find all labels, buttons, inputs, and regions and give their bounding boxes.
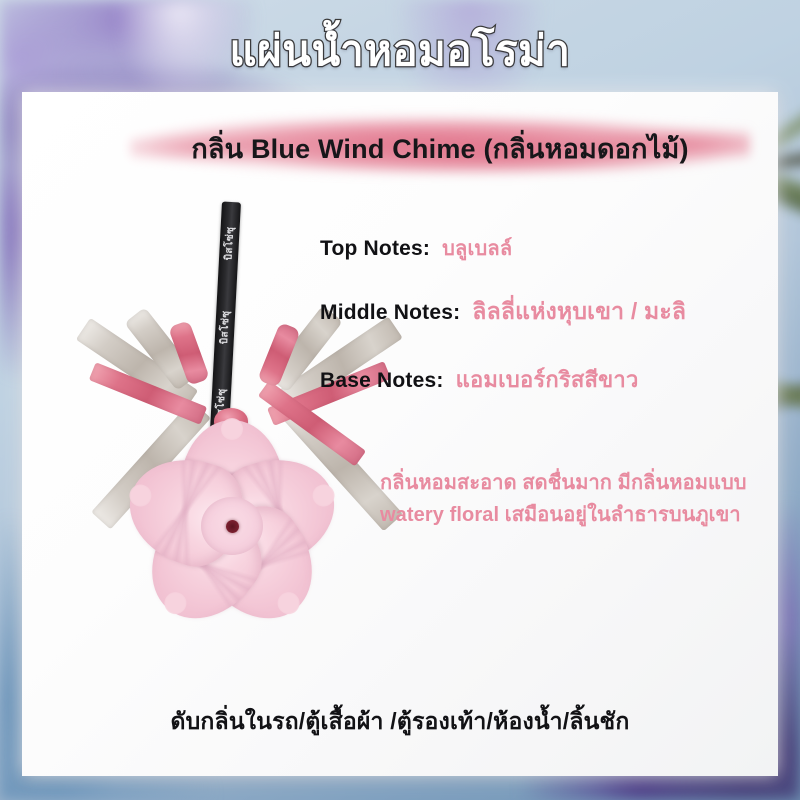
hanging-strap: บิสโซ่ซุ บิสโซ่ซุ บิสโซ่ซุ [210, 202, 241, 435]
fragrance-notes-list: Top Notes: บลูเบลล์ Middle Notes: ลิลลี่… [320, 232, 750, 427]
note-label: Base Notes: [320, 369, 444, 393]
scent-name-banner: กลิ่น Blue Wind Chime (กลิ่นหอมดอกไม้) [130, 110, 750, 186]
note-label: Top Notes: [320, 237, 430, 261]
page-title: แผ่นน้ำหอมอโรม่า [0, 18, 800, 84]
product-card: กลิ่น Blue Wind Chime (กลิ่นหอมดอกไม้) บ… [22, 92, 778, 776]
poster-canvas: แผ่นน้ำหอมอโรม่า กลิ่น Blue Wind Chime (… [0, 0, 800, 800]
note-row-top: Top Notes: บลูเบลล์ [320, 232, 750, 264]
flower-center-hole [226, 520, 239, 533]
note-label: Middle Notes: [320, 301, 460, 325]
note-value: บลูเบลล์ [442, 232, 512, 264]
sakura-flower-pendant [120, 414, 344, 638]
scent-name-label: กลิ่น Blue Wind Chime (กลิ่นหอมดอกไม้) [130, 110, 750, 186]
scent-description: กลิ่นหอมสะอาด สดชื่นมาก มีกลิ่นหอมแบบ wa… [380, 467, 780, 532]
strap-brand-logo: บิสโซ่ซุ [217, 310, 234, 345]
note-row-base: Base Notes: แอมเบอร์กริสสีขาว [320, 362, 750, 397]
note-value: ลิลลี่แห่งหุบเขา / มะลิ [472, 294, 686, 330]
note-row-middle: Middle Notes: ลิลลี่แห่งหุบเขา / มะลิ [320, 294, 750, 330]
note-value: แอมเบอร์กริสสีขาว [456, 362, 639, 397]
strap-brand-logo: บิสโซ่ซุ [221, 226, 238, 261]
usage-line: ดับกลิ่นในรถ/ตู้เสื้อผ้า /ตู้รองเท้า/ห้อ… [22, 704, 778, 740]
